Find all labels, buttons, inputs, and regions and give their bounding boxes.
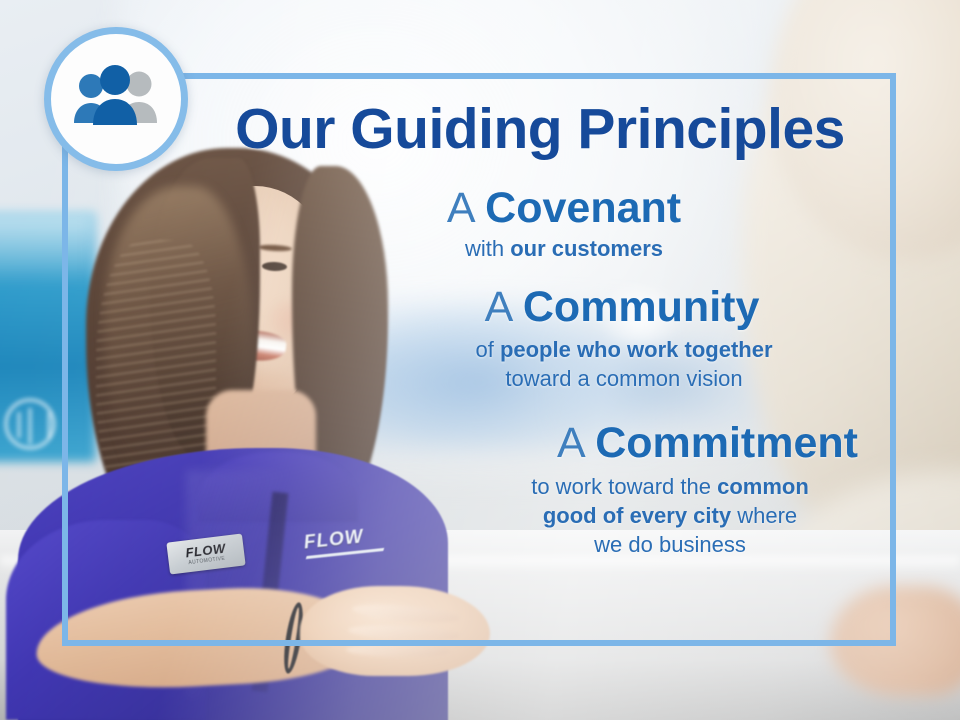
principle-subline: to work toward the common [460,472,880,501]
principle-commitment: A Commitment to work toward the common g… [300,419,880,558]
subline-bold: people who work together [500,337,773,362]
subline-normal-before: to work toward the [531,474,717,499]
principle-community: A Community of people who work together … [300,283,880,393]
principle-subline: good of every city where [460,501,880,530]
principle-article: A [557,419,583,467]
subline-bold: good of every city [543,503,731,528]
people-group-icon [65,65,167,133]
people-badge [44,27,188,171]
principle-keyword: Covenant [485,184,681,232]
subline-normal-before: we do business [594,532,746,557]
principle-subtext: of people who work together toward a com… [300,335,880,393]
principle-subtext: with our customers [300,234,880,263]
principle-article: A [485,283,511,331]
principle-heading: A Community [300,283,880,331]
subline-normal-before: toward a common vision [505,366,742,391]
principle-subline: of people who work together [368,335,880,364]
principle-covenant: A Covenant with our customers [300,184,880,263]
principle-heading: A Covenant [300,184,880,232]
principles-list: A Covenant with our customers A Communit… [300,184,880,561]
subline-bold: common [717,474,809,499]
principle-keyword: Commitment [595,419,858,467]
principle-subline: with our customers [300,234,828,263]
page-title: Our Guiding Principles [200,96,880,162]
display-panel-highlight [0,212,96,282]
guiding-principles-graphic: FLOW AUTOMOTIVE FLOW Our Guiding Princ [0,0,960,720]
principle-article: A [447,184,473,232]
subline-normal-before: of [475,337,499,362]
subline-normal-before: with [465,236,510,261]
principle-heading: A Commitment [300,419,880,467]
principle-subtext: to work toward the common good of every … [300,472,880,559]
subline-normal-after: where [731,503,797,528]
customer-hand [830,586,960,696]
principle-keyword: Community [523,283,760,331]
principle-subline: we do business [460,530,880,559]
principle-subline: toward a common vision [368,364,880,393]
vw-logo-icon [4,398,56,450]
subline-bold: our customers [510,236,663,261]
